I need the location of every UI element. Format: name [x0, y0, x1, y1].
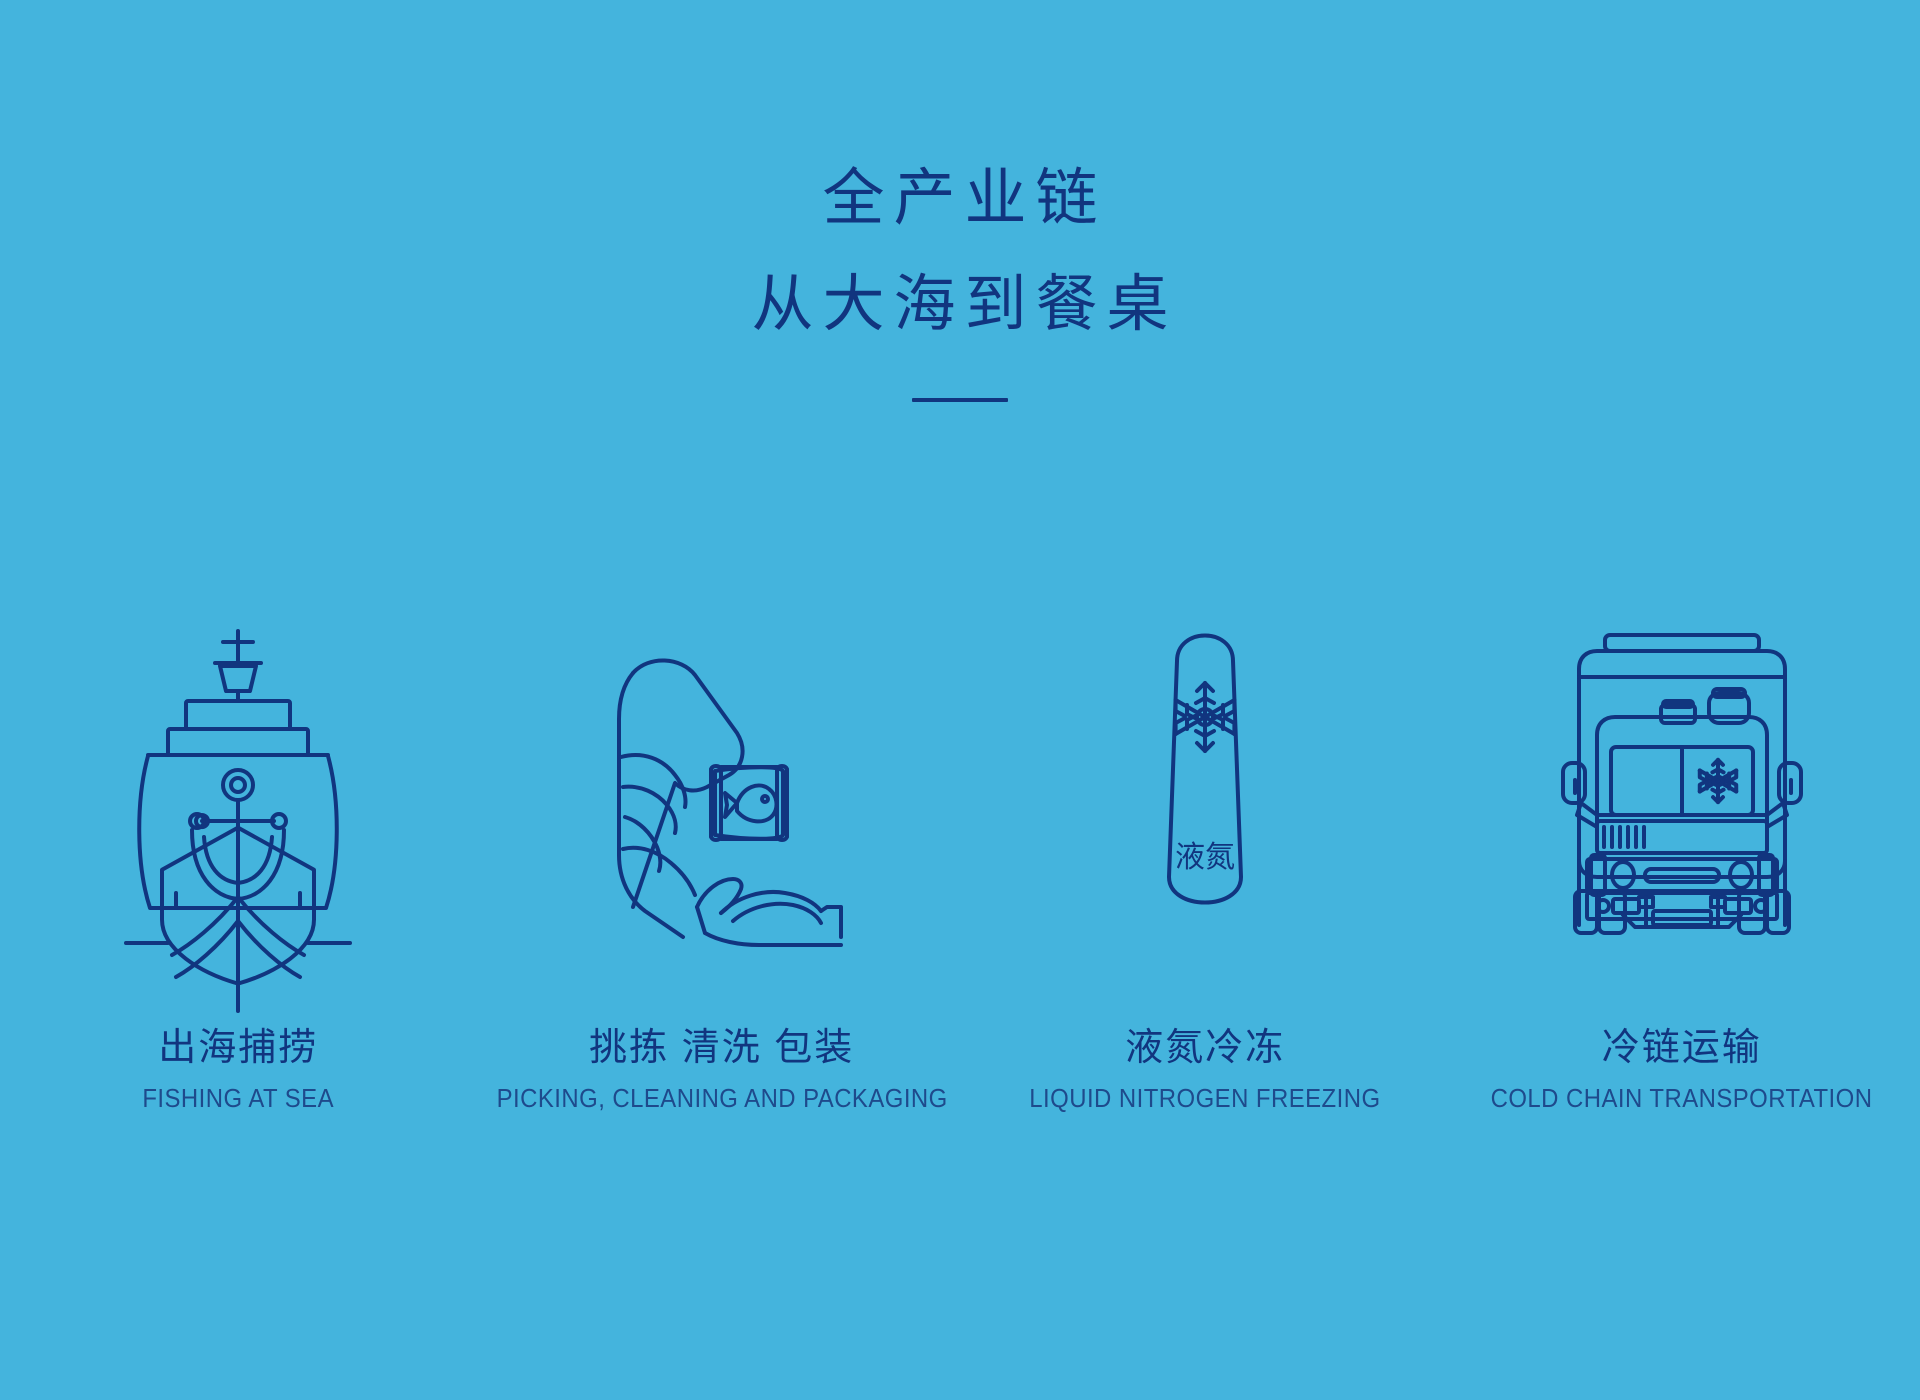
tank-label: 液氮 — [1175, 841, 1235, 874]
liquid-nitrogen-tank-icon: 液氮 — [1145, 605, 1265, 935]
step-label-cn: 冷链运输 — [1474, 1027, 1889, 1071]
page-title-line-1: 全产业链 — [0, 168, 1920, 230]
icon-wrap-hands — [587, 515, 857, 935]
step-label-cn: 出海捕捞 — [134, 1027, 342, 1071]
labels-step-3: 液氮冷冻 LIQUID NITROGEN FREEZING — [1014, 1027, 1396, 1114]
icon-wrap-truck — [1557, 515, 1807, 935]
title-divider — [912, 398, 1008, 402]
labels-step-1: 出海捕捞 FISHING AT SEA — [134, 1027, 342, 1114]
step-fishing-at-sea: 出海捕捞 FISHING AT SEA — [0, 515, 477, 1114]
step-label-en: PICKING, CLEANING AND PACKAGING — [496, 1083, 947, 1114]
fishing-boat-anchor-icon — [120, 625, 356, 935]
icon-wrap-tank: 液氮 — [1145, 515, 1265, 935]
header: 全产业链 从大海到餐桌 — [0, 168, 1920, 402]
snowflake-icon — [1699, 760, 1735, 802]
step-cold-chain-transportation: 冷链运输 COLD CHAIN TRANSPORTATION — [1443, 515, 1920, 1114]
cold-chain-truck-icon — [1557, 625, 1807, 935]
infographic-page: 全产业链 从大海到餐桌 — [0, 0, 1920, 1400]
hands-fish-package-icon — [587, 645, 857, 935]
icon-wrap-boat — [120, 515, 356, 935]
step-label-cn: 挑拣 清洗 包装 — [477, 1027, 967, 1071]
labels-step-4: 冷链运输 COLD CHAIN TRANSPORTATION — [1474, 1027, 1889, 1114]
step-label-en: FISHING AT SEA — [142, 1083, 334, 1114]
step-label-cn: 液氮冷冻 — [1014, 1027, 1396, 1071]
page-title-line-2: 从大海到餐桌 — [0, 274, 1920, 336]
step-liquid-nitrogen-freezing: 液氮 液氮冷冻 LIQUID NITROGEN FREEZING — [967, 515, 1444, 1114]
process-steps: 出海捕捞 FISHING AT SEA — [0, 515, 1920, 1114]
labels-step-2: 挑拣 清洗 包装 PICKING, CLEANING AND PACKAGING — [477, 1027, 967, 1114]
step-label-en: COLD CHAIN TRANSPORTATION — [1491, 1083, 1873, 1114]
step-picking-cleaning-packaging: 挑拣 清洗 包装 PICKING, CLEANING AND PACKAGING — [477, 515, 967, 1114]
snowflake-icon — [1176, 683, 1235, 751]
step-label-en: LIQUID NITROGEN FREEZING — [1030, 1083, 1381, 1114]
